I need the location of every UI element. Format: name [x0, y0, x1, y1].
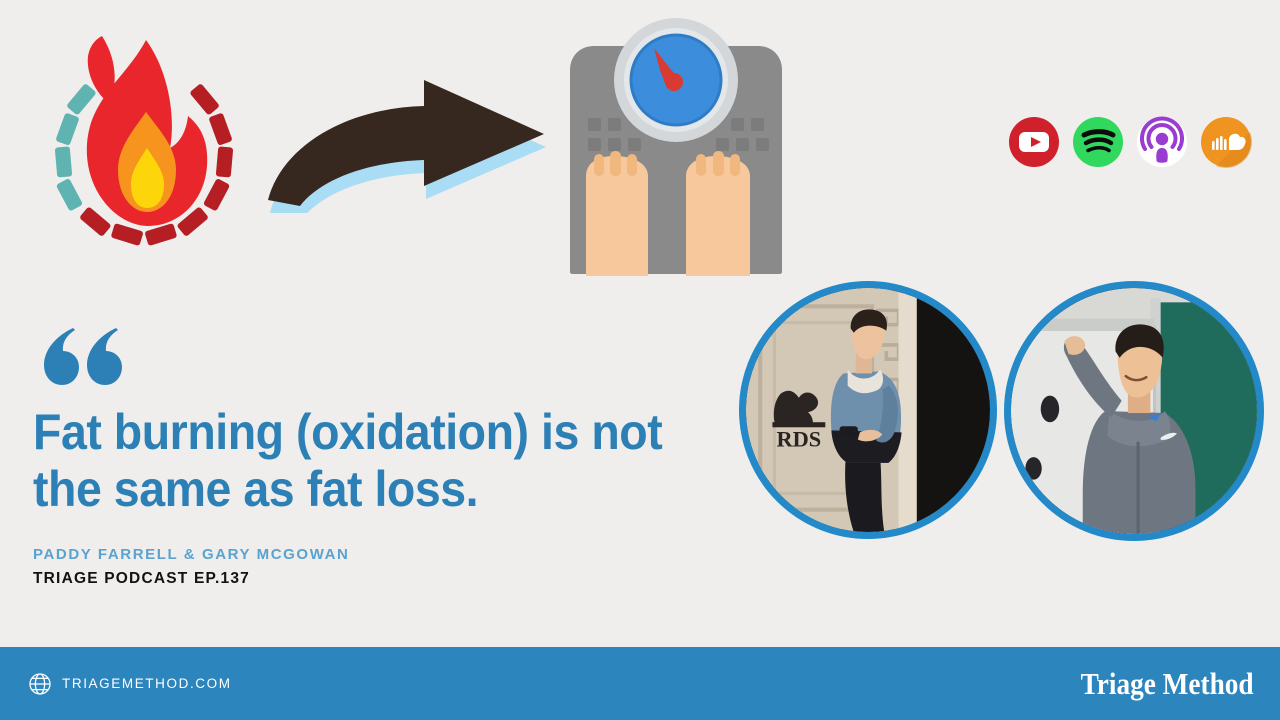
slide-canvas: Fat burning (oxidation) is not the same …	[0, 0, 1280, 720]
curved-arrow-icon	[262, 78, 552, 213]
rds-venue-text: RDS	[776, 427, 821, 452]
footer-bar: TRIAGEMETHOD.COM Triage Method	[0, 647, 1280, 720]
soundcloud-icon[interactable]	[1200, 116, 1252, 168]
footer-website[interactable]: TRIAGEMETHOD.COM	[28, 672, 232, 696]
fat-burning-flame-icon	[30, 12, 260, 272]
quote-mark-icon	[40, 326, 126, 388]
globe-icon	[28, 672, 52, 696]
spotify-icon[interactable]	[1072, 116, 1124, 168]
arrow-body	[268, 80, 544, 206]
photo-paddy-farrell: RDS	[739, 281, 997, 539]
photo-gary-mcgowan	[1004, 281, 1264, 541]
social-links-row	[1008, 116, 1252, 168]
youtube-icon[interactable]	[1008, 116, 1060, 168]
quote-speakers: Paddy Farrell & Gary McGowan	[33, 546, 349, 563]
quote-text: Fat burning (oxidation) is not the same …	[33, 404, 684, 518]
quote-episode: Triage Podcast Ep.137	[33, 570, 250, 588]
bathroom-scale-icon	[556, 8, 796, 276]
brand-logo-text: Triage Method	[1081, 666, 1254, 702]
apple-podcasts-icon[interactable]	[1136, 116, 1188, 168]
footer-url-text: TRIAGEMETHOD.COM	[62, 676, 232, 691]
